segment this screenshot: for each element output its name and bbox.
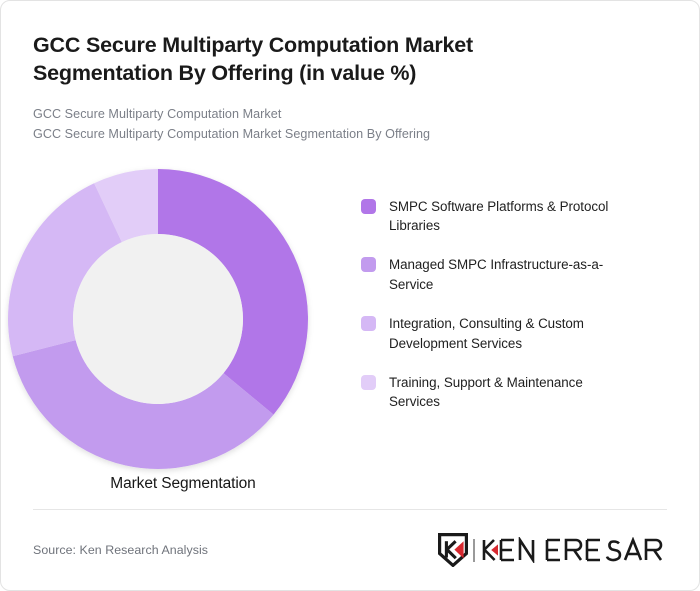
legend-swatch-icon — [361, 316, 376, 331]
legend-item-label: SMPC Software Platforms & Protocol Libra… — [389, 197, 614, 237]
donut-center-label: Market Segmentation — [33, 475, 333, 493]
donut-svg — [1, 157, 361, 477]
breadcrumb: GCC Secure Multiparty Computation Market… — [33, 104, 667, 145]
breadcrumb-item-segmentation: GCC Secure Multiparty Computation Market… — [33, 124, 667, 144]
legend-item-label: Training, Support & Maintenance Services — [389, 373, 614, 413]
donut-hole — [73, 234, 243, 404]
ken-research-shield-icon — [438, 533, 468, 567]
page-title: GCC Secure Multiparty Computation Market… — [33, 31, 593, 88]
legend-item-label: Managed SMPC Infrastructure-as-a-Service — [389, 255, 614, 295]
donut-chart: Market Segmentation — [1, 157, 361, 477]
legend-swatch-icon — [361, 199, 376, 214]
chart-header: GCC Secure Multiparty Computation Market… — [1, 1, 699, 145]
legend-swatch-icon — [361, 375, 376, 390]
chart-card: GCC Secure Multiparty Computation Market… — [0, 0, 700, 591]
legend-swatch-icon — [361, 257, 376, 272]
breadcrumb-item-market: GCC Secure Multiparty Computation Market — [33, 104, 667, 124]
legend-item-label: Integration, Consulting & Custom Develop… — [389, 314, 614, 354]
chart-footer: Source: Ken Research Analysis — [33, 509, 667, 590]
logo-divider — [473, 539, 475, 562]
legend-item-smpc-software-platforms[interactable]: SMPC Software Platforms & Protocol Libra… — [361, 197, 685, 237]
source-note: Source: Ken Research Analysis — [33, 543, 208, 557]
chart-body: Market Segmentation SMPC Software Platfo… — [1, 157, 699, 477]
ken-research-wordmark — [481, 537, 667, 563]
chart-legend: SMPC Software Platforms & Protocol Libra… — [361, 157, 699, 432]
legend-item-training-support[interactable]: Training, Support & Maintenance Services — [361, 373, 685, 413]
legend-item-managed-smpc-infrastructure[interactable]: Managed SMPC Infrastructure-as-a-Service — [361, 255, 685, 295]
ken-research-logo — [438, 533, 667, 567]
legend-item-integration-consulting[interactable]: Integration, Consulting & Custom Develop… — [361, 314, 685, 354]
